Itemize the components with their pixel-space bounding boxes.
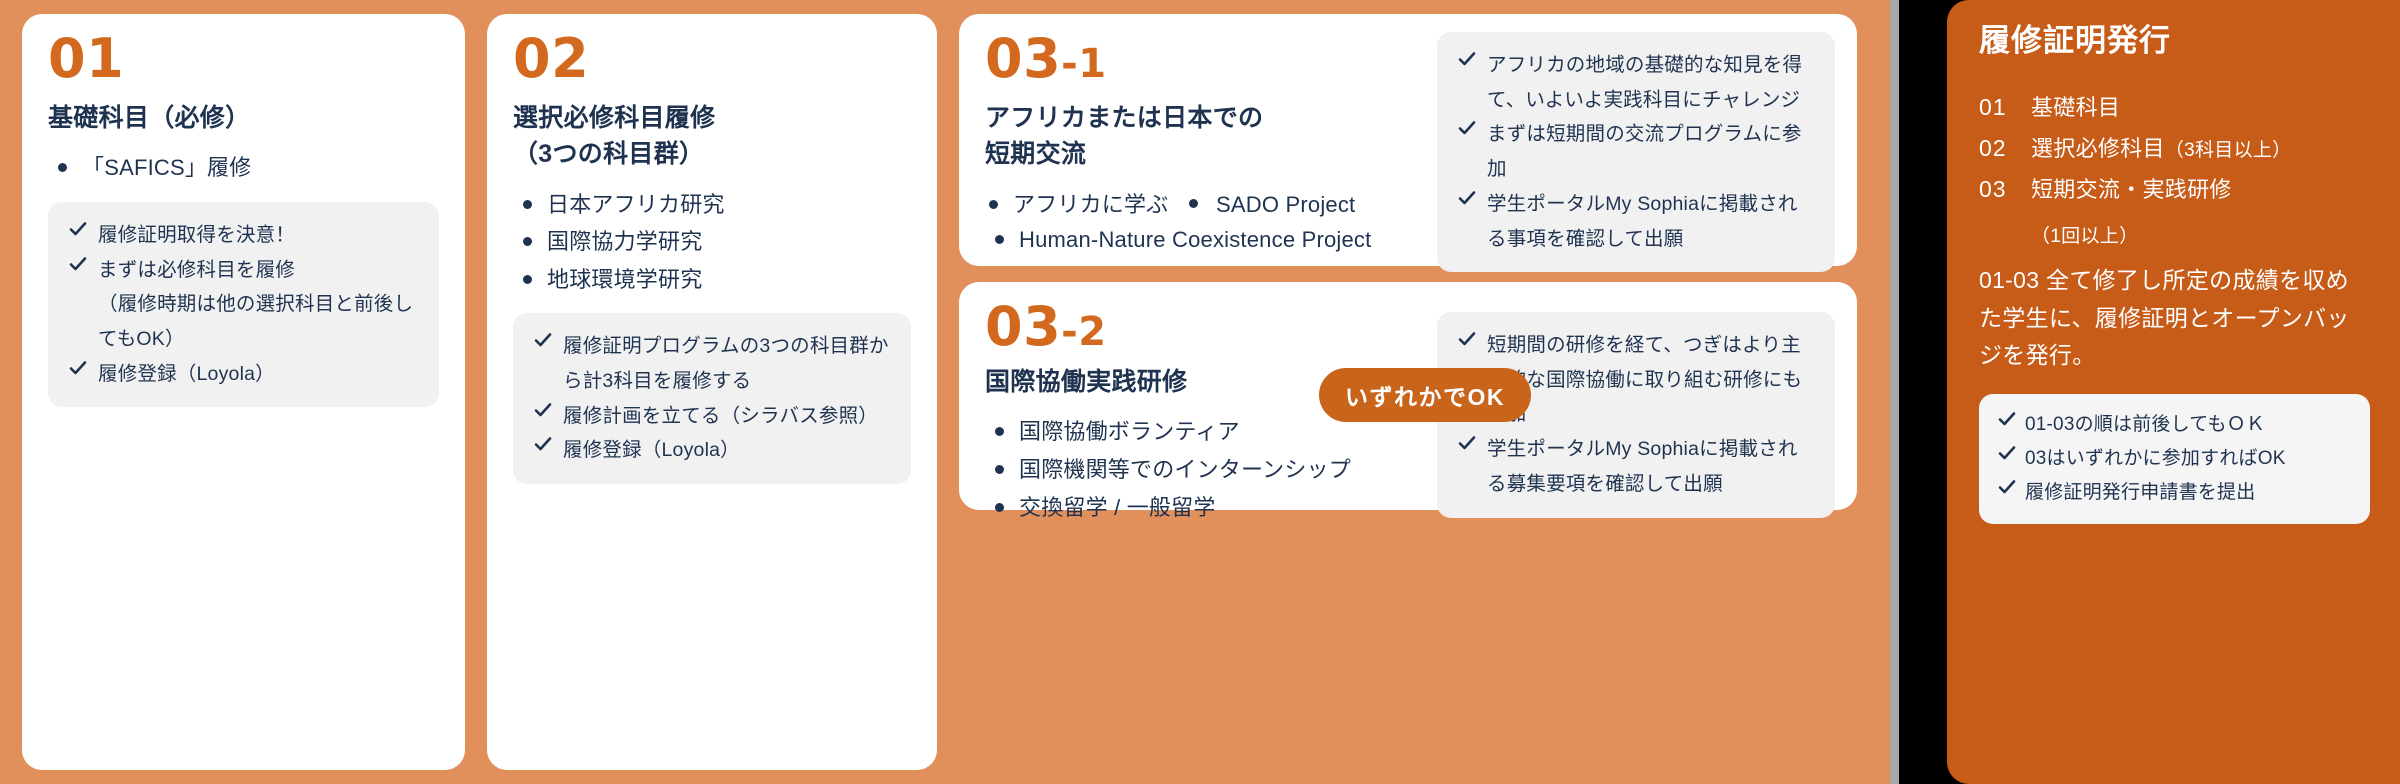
check-label: 履修登録（Loyola） (563, 439, 740, 461)
bullet-dot-icon (995, 465, 1004, 474)
list-item: 「SAFICS」履修 (54, 150, 439, 186)
list-item: Human-Nature Coexistence Project (991, 222, 1437, 258)
check-label: 03はいずれかに参加すればOK (2025, 448, 2286, 469)
certificate-panel: 履修証明発行 01 基礎科目 02 選択必修科目（3科目以上） 03 短期交流・… (1947, 0, 2400, 784)
check-label: アフリカの地域の基礎的な知見を得て、いよいよ実践科目にチャレンジ (1487, 54, 1802, 111)
list-item: 履修計画を立てる（シラバス参照） (529, 399, 891, 434)
certificate-panel-title: 履修証明発行 (1979, 22, 2370, 59)
bullet-dot-icon (523, 237, 532, 246)
check-label: 01-03の順は前後してもＯＫ (2025, 414, 2265, 435)
step-02-check-list: 履修証明プログラムの3つの科目群から計3科目を履修する 履修計画を立てる（シラバ… (529, 329, 891, 468)
step-01-check-list: 履修証明取得を決意！ まずは必修科目を履修 （履修時期は他の選択科目と前後しても… (64, 218, 419, 392)
list-item: 01 基礎科目 (1979, 87, 2370, 128)
bullet-label: 地球環境学研究 (547, 267, 702, 292)
check-icon (1997, 409, 2017, 429)
step-number-03-2: 03-2 (985, 300, 1437, 354)
check-label: 履修計画を立てる（シラバス参照） (563, 405, 878, 427)
steps-region: 01 基礎科目（必修） 「SAFICS」履修 履修証明取得を決意！ (0, 0, 1899, 784)
check-icon (1457, 118, 1477, 138)
step-03-1-check-list: アフリカの地域の基礎的な知見を得て、いよいよ実践科目にチャレンジ まずは短期間の… (1453, 48, 1815, 256)
requirement-label: 短期交流・実践研修 (2031, 177, 2232, 202)
step-03-2-bullet-list: 国際協働ボランティア 国際機関等でのインターンシップ 交換留学 / 一般留学 (985, 414, 1437, 525)
list-item: アフリカの地域の基礎的な知見を得て、いよいよ実践科目にチャレンジ (1453, 48, 1815, 117)
list-item: まずは短期間の交流プログラムに参加 (1453, 117, 1815, 186)
list-item: 履修登録（Loyola） (529, 433, 891, 468)
requirement-note: （1回以上） (2031, 222, 2370, 252)
check-icon (68, 219, 88, 239)
check-icon (1457, 49, 1477, 69)
requirement-number: 03 (1979, 169, 2031, 210)
list-item: 03 短期交流・実践研修 (1979, 169, 2370, 210)
bullet-dot-icon (58, 163, 67, 172)
step-02-bullet-list: 日本アフリカ研究 国際協力学研究 地球環境学研究 (513, 187, 911, 298)
step-card-03-1: 03-1 アフリカまたは日本での 短期交流 アフリカに学ぶ SADO Proje… (959, 14, 1857, 266)
step-card-02: 02 選択必修科目履修 （3つの科目群） 日本アフリカ研究 国際協力学研究 地球… (487, 14, 937, 770)
bullet-label: 「SAFICS」履修 (82, 155, 251, 180)
list-item: 03はいずれかに参加すればOK (1993, 442, 2354, 476)
step-03-1-main: 03-1 アフリカまたは日本での 短期交流 アフリカに学ぶ SADO Proje… (959, 14, 1437, 266)
check-icon (68, 358, 88, 378)
step-number-base: 03 (985, 295, 1061, 358)
bullet-dot-icon (523, 200, 532, 209)
list-item: 履修証明取得を決意！ (64, 218, 419, 253)
bullet-dot-icon (989, 200, 998, 209)
step-card-01: 01 基礎科目（必修） 「SAFICS」履修 履修証明取得を決意！ (22, 14, 465, 770)
check-icon (533, 330, 553, 350)
check-icon (1457, 433, 1477, 453)
list-item: 学生ポータルMy Sophiaに掲載される募集要項を確認して出願 (1453, 432, 1815, 501)
list-item: 02 選択必修科目（3科目以上） (1979, 128, 2370, 169)
bullet-label: 日本アフリカ研究 (547, 192, 725, 217)
list-item: 履修登録（Loyola） (64, 357, 419, 392)
check-label: まずは短期間の交流プログラムに参加 (1487, 123, 1802, 180)
requirement-number: 02 (1979, 128, 2031, 169)
list-item: 交換留学 / 一般留学 (991, 490, 1437, 526)
list-item: 国際機関等でのインターンシップ (991, 452, 1437, 488)
step-number-base: 03 (985, 27, 1061, 90)
bullet-label: 国際機関等でのインターンシップ (1019, 457, 1351, 482)
check-label: 履修証明プログラムの3つの科目群から計3科目を履修する (563, 335, 889, 392)
step-number-03-1: 03-1 (985, 32, 1437, 86)
check-label: 履修証明発行申請書を提出 (2025, 482, 2255, 503)
step-number-01: 01 (48, 32, 439, 86)
diagram-canvas: 01 基礎科目（必修） 「SAFICS」履修 履修証明取得を決意！ (0, 0, 2400, 784)
bullet-label: アフリカに学ぶ (1013, 192, 1168, 217)
bullet-dot-icon (523, 275, 532, 284)
check-icon (1457, 188, 1477, 208)
check-label: 学生ポータルMy Sophiaに掲載される事項を確認して出願 (1487, 193, 1798, 250)
step-01-check-panel: 履修証明取得を決意！ まずは必修科目を履修 （履修時期は他の選択科目と前後しても… (48, 202, 439, 408)
requirement-text: 選択必修科目（3科目以上） (2031, 129, 2291, 168)
list-item: 履修証明発行申請書を提出 (1993, 476, 2354, 510)
bullet-label: 交換留学 / 一般留学 (1019, 495, 1216, 520)
list-item: 地球環境学研究 (519, 262, 911, 298)
bullet-label: 国際協力学研究 (547, 229, 702, 254)
step-number-02: 02 (513, 32, 911, 86)
bullet-dot-icon (995, 235, 1004, 244)
list-item: 日本アフリカ研究 (519, 187, 911, 223)
check-label: 学生ポータルMy Sophiaに掲載される募集要項を確認して出願 (1487, 438, 1798, 495)
step-03-1-check-panel: アフリカの地域の基礎的な知見を得て、いよいよ実践科目にチャレンジ まずは短期間の… (1437, 32, 1835, 272)
bullet-label: Human-Nature Coexistence Project (1019, 227, 1371, 252)
list-item: 国際協力学研究 (519, 224, 911, 260)
check-label: 短期間の研修を経て、つぎはより主体的な国際協働に取り組む研修にも参加 (1487, 334, 1802, 425)
list-item: 学生ポータルMy Sophiaに掲載される事項を確認して出願 (1453, 187, 1815, 256)
step-number-suffix: -1 (1061, 41, 1106, 87)
step-03-1-bullet-list: Human-Nature Coexistence Project (985, 222, 1437, 258)
certificate-check-list: 01-03の順は前後してもＯＫ 03はいずれかに参加すればOK 履修証明発行申請… (1993, 408, 2354, 509)
certificate-requirement-list: 01 基礎科目 02 選択必修科目（3科目以上） 03 短期交流・実践研修 (1979, 87, 2370, 210)
requirement-text: 基礎科目 (2031, 88, 2120, 127)
bullet-label: 国際協働ボランティア (1019, 419, 1240, 444)
check-icon (68, 254, 88, 274)
list-item: 01-03の順は前後してもＯＫ (1993, 408, 2354, 442)
step-title-01: 基礎科目（必修） (48, 100, 439, 136)
requirement-text: 短期交流・実践研修 (2031, 170, 2232, 209)
requirement-label: 選択必修科目 (2031, 136, 2165, 161)
check-icon (1457, 329, 1477, 349)
step-03-1-notes: アフリカの地域の基礎的な知見を得て、いよいよ実践科目にチャレンジ まずは短期間の… (1437, 14, 1857, 266)
step-title-02: 選択必修科目履修 （3つの科目群） (513, 100, 911, 173)
step-number-suffix: -2 (1061, 309, 1106, 355)
requirement-number: 01 (1979, 87, 2031, 128)
bullet-dot-icon (1189, 199, 1198, 208)
step-02-check-panel: 履修証明プログラムの3つの科目群から計3科目を履修する 履修計画を立てる（シラバ… (513, 313, 911, 484)
step-03-1-bullet-row: アフリカに学ぶ SADO Project (985, 187, 1437, 223)
check-label: まずは必修科目を履修 （履修時期は他の選択科目と前後してもOK） (98, 259, 413, 350)
requirement-label: 基礎科目 (2031, 95, 2120, 120)
bullet-label: SADO Project (1216, 192, 1355, 217)
certificate-paragraph: 01-03 全て修了し所定の成績を収めた学生に、履修証明とオープンバッジを発行。 (1979, 262, 2370, 374)
step-title-03-1: アフリカまたは日本での 短期交流 (985, 100, 1437, 173)
check-icon (533, 434, 553, 454)
steps-columns: 01 基礎科目（必修） 「SAFICS」履修 履修証明取得を決意！ (22, 14, 1877, 770)
certificate-check-panel: 01-03の順は前後してもＯＫ 03はいずれかに参加すればOK 履修証明発行申請… (1979, 394, 2370, 523)
check-icon (1997, 477, 2017, 497)
check-label: 履修証明取得を決意！ (98, 224, 295, 246)
requirement-suffix: （3科目以上） (2165, 140, 2292, 161)
either-ok-badge: いずれかでOK (1319, 368, 1531, 422)
step-01-bullet-list: 「SAFICS」履修 (48, 150, 439, 186)
bullet-dot-icon (995, 503, 1004, 512)
check-icon (533, 400, 553, 420)
list-item: 履修証明プログラムの3つの科目群から計3科目を履修する (529, 329, 891, 398)
check-label: 履修登録（Loyola） (98, 363, 275, 385)
check-icon (1997, 443, 2017, 463)
list-item: まずは必修科目を履修 （履修時期は他の選択科目と前後してもOK） (64, 253, 419, 357)
bullet-dot-icon (995, 427, 1004, 436)
